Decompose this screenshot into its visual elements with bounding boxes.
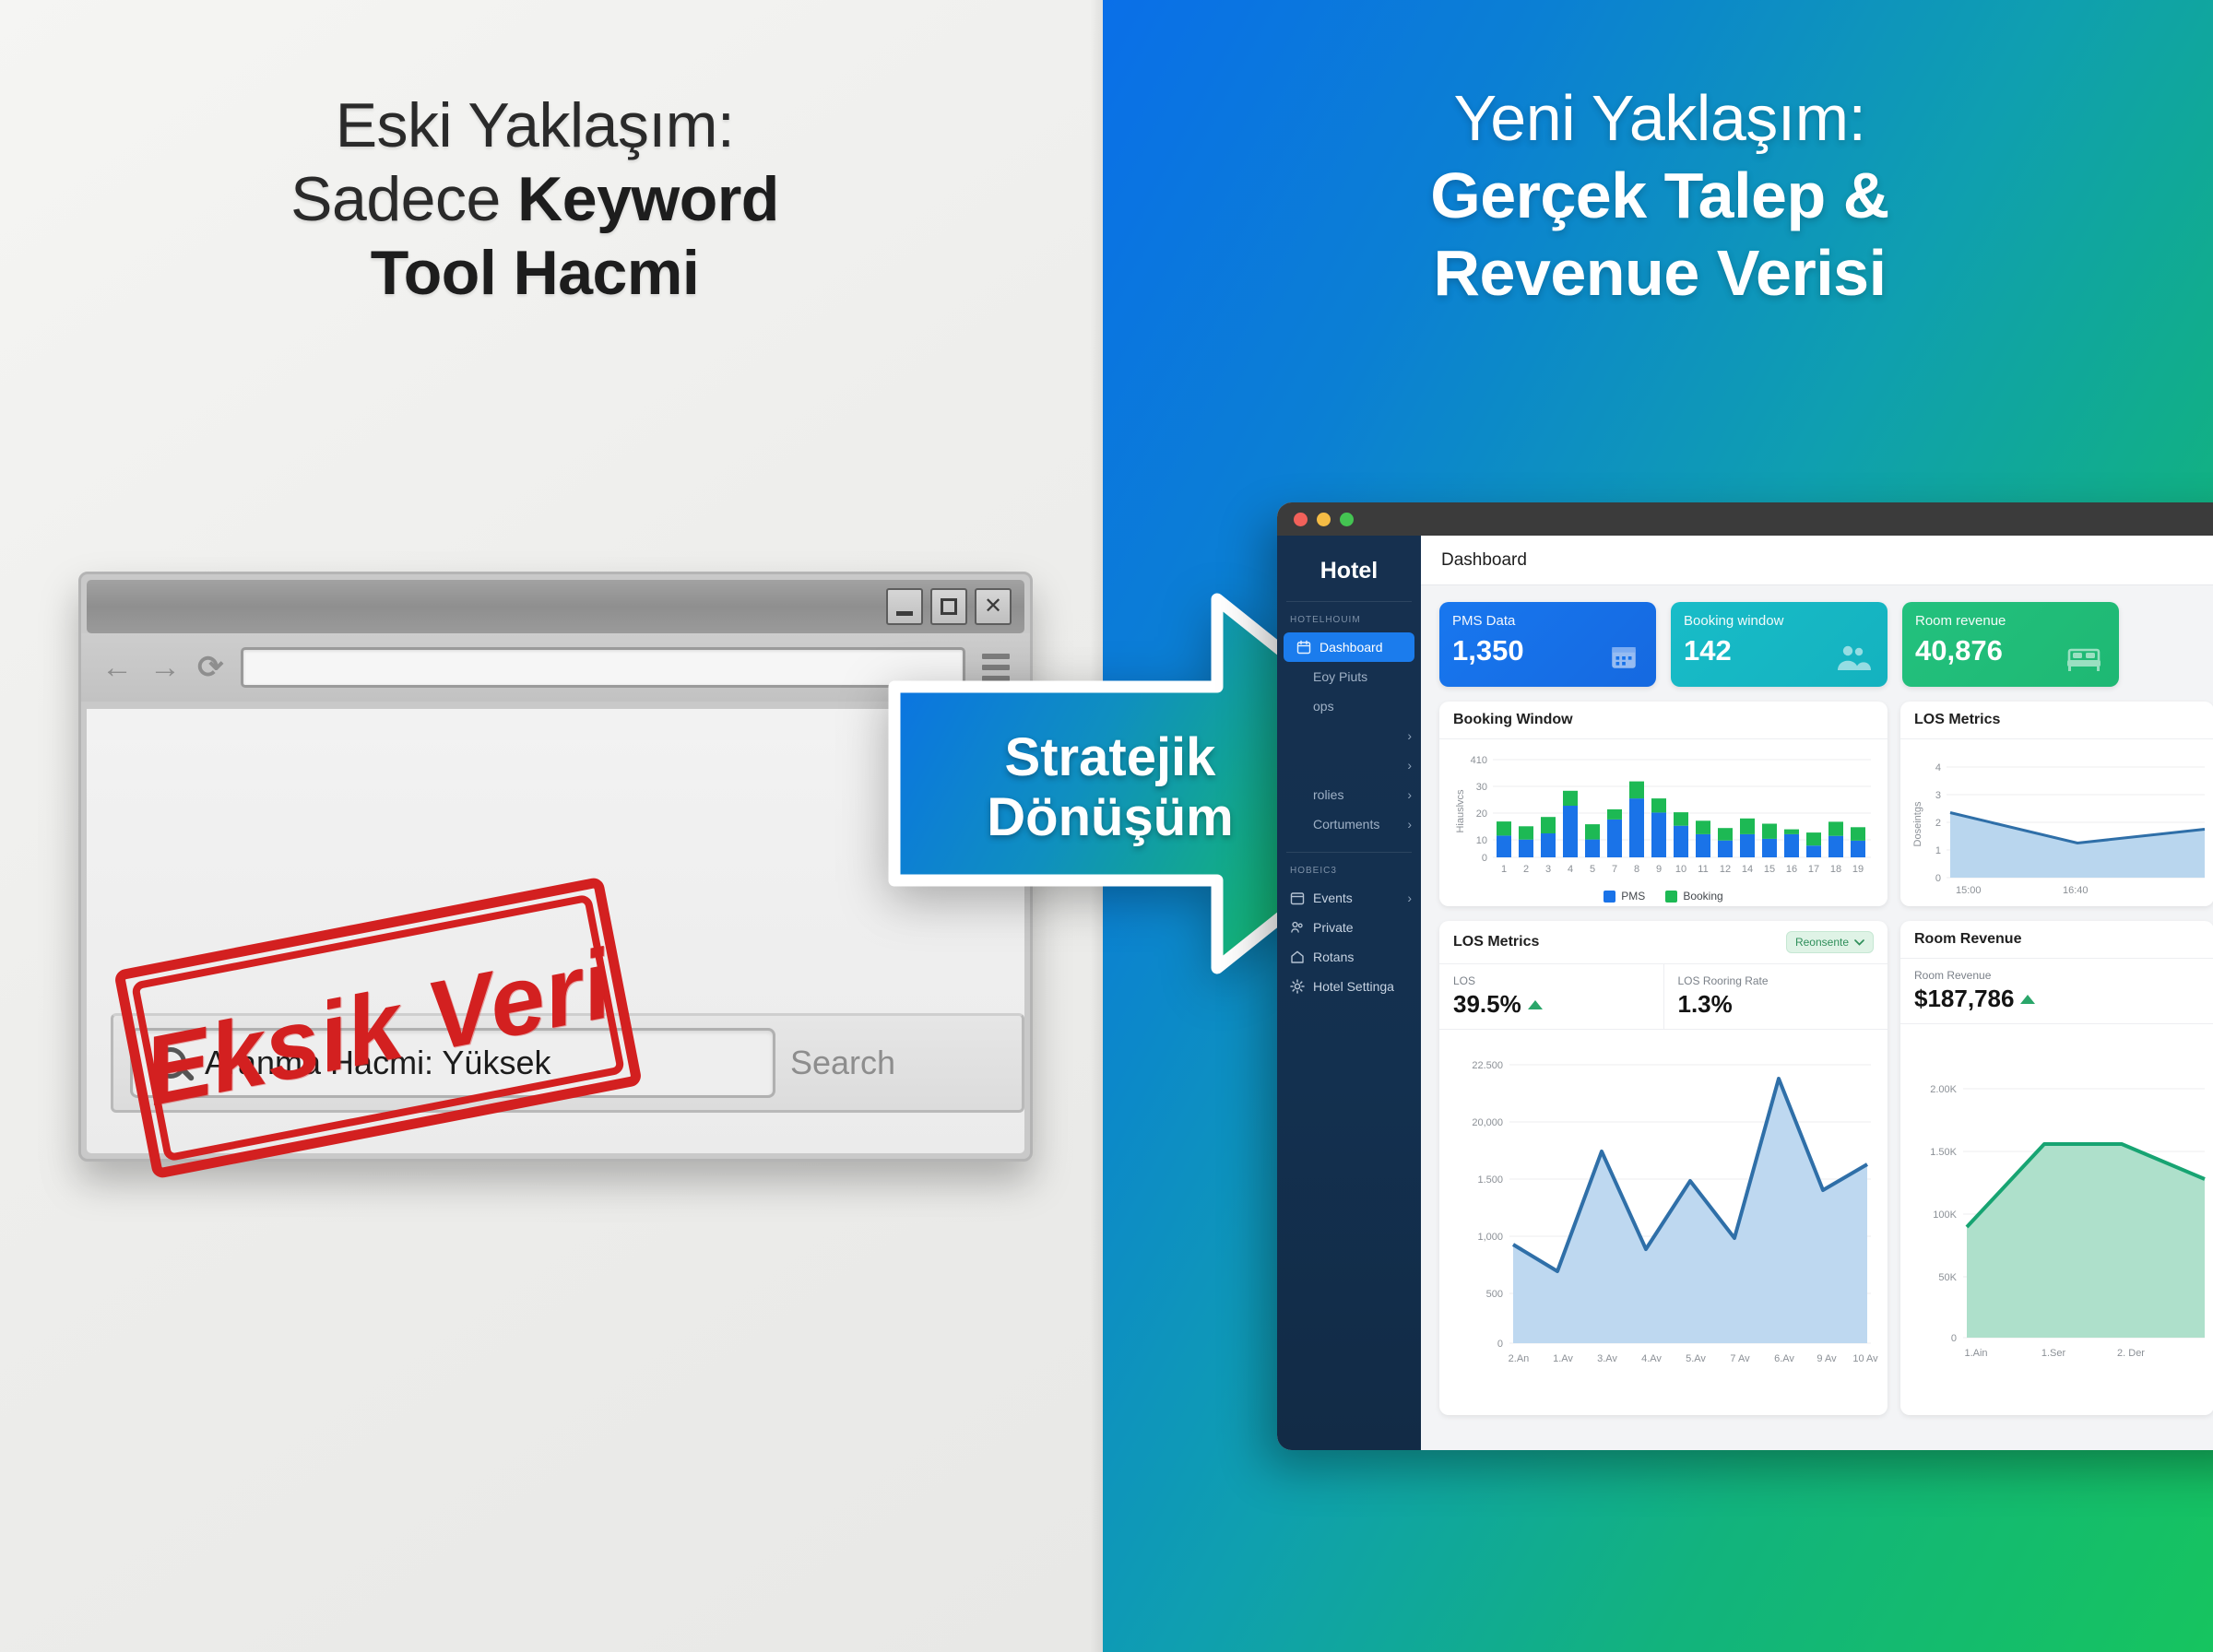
chart-icon [1290, 669, 1305, 684]
card-title: Room Revenue [1914, 931, 2021, 948]
sidebar-item-events[interactable]: Events › [1277, 883, 1421, 913]
room-revenue-chart: 2.00K 1.50K 100K 50K 0 1.Ain1.Ser2. Der [1900, 1024, 2213, 1388]
sidebar-item-ops[interactable]: ops [1277, 691, 1421, 721]
svg-text:2.00K: 2.00K [1930, 1084, 1957, 1095]
svg-text:4.Av: 4.Av [1641, 1353, 1662, 1364]
sidebar-section-2: HOBEIC3 [1277, 853, 1421, 883]
svg-text:20,000: 20,000 [1472, 1117, 1503, 1128]
forward-icon[interactable]: → [149, 650, 181, 686]
svg-text:30: 30 [1476, 782, 1487, 793]
right-heading-line2: Gerçek Talep & [1143, 157, 2176, 234]
right-heading-line3: Revenue Verisi [1143, 234, 2176, 312]
chevron-right-icon: › [1407, 728, 1412, 743]
metric-value: 1.3% [1678, 990, 1733, 1019]
sidebar-item-label: Events [1313, 891, 1353, 905]
svg-text:11: 11 [1698, 864, 1708, 875]
reload-icon[interactable]: ⟳ [197, 649, 224, 686]
period-dropdown[interactable]: Reonsente [1786, 931, 1874, 953]
placeholder-icon [1290, 758, 1305, 773]
card-title: LOS Metrics [1453, 934, 1539, 950]
card-room-revenue: Room Revenue Room Revenue $187,786 [1900, 921, 2213, 1415]
chevron-right-icon: › [1407, 787, 1412, 802]
legend-label: Booking [1683, 890, 1722, 903]
metric-label: LOS [1453, 974, 1650, 987]
sidebar-item-dashboard[interactable]: Dashboard [1284, 632, 1414, 662]
svg-text:3: 3 [1545, 864, 1551, 875]
back-icon[interactable]: ← [101, 650, 133, 686]
svg-text:0: 0 [1497, 1339, 1503, 1350]
chevron-right-icon: › [1407, 758, 1412, 773]
svg-text:1,000: 1,000 [1477, 1232, 1503, 1243]
card-header: LOS Metrics Reonsente [1439, 921, 1888, 964]
svg-text:1.Ain: 1.Ain [1964, 1348, 1987, 1359]
svg-text:1.50K: 1.50K [1930, 1147, 1957, 1158]
svg-text:2.An: 2.An [1509, 1353, 1530, 1364]
svg-text:0: 0 [1482, 853, 1487, 864]
svg-text:12: 12 [1720, 864, 1731, 875]
sidebar-item-rotans[interactable]: Rotans [1277, 942, 1421, 972]
chevron-right-icon: › [1407, 891, 1412, 905]
svg-text:0: 0 [1951, 1333, 1957, 1344]
kpi-label: Room revenue [1915, 613, 2106, 629]
los-large-chart: 22.500 20,000 1.500 1,000 500 0 2.An1.Av… [1439, 1030, 1888, 1394]
sidebar-item-label: Hotel Settinga [1313, 979, 1394, 994]
los-metrics-row: LOS 39.5% LOS Rooring Rate 1.3% [1439, 964, 1888, 1030]
svg-text:17: 17 [1808, 864, 1819, 875]
svg-text:1.500: 1.500 [1477, 1174, 1503, 1186]
trend-up-icon [2020, 995, 2035, 1004]
gear-icon [1290, 979, 1305, 994]
home-icon [1290, 950, 1305, 964]
sidebar-item-hidden-2[interactable]: › [1277, 750, 1421, 780]
svg-text:9: 9 [1656, 864, 1662, 875]
left-heading-line3: Tool Hacmi [37, 236, 1033, 310]
kpi-card-room-revenue[interactable]: Room revenue 40,876 [1902, 602, 2119, 687]
svg-text:4: 4 [1568, 864, 1573, 875]
dashboard-body: Hotel HOTELHOUIM Dashboard Eoy Piuts ops [1277, 536, 2213, 1450]
kpi-card-booking-window[interactable]: Booking window 142 [1671, 602, 1888, 687]
maximize-dot-icon[interactable] [1340, 513, 1354, 526]
metric-room-revenue: Room Revenue $187,786 [1900, 959, 2213, 1023]
card-title: Booking Window [1453, 712, 1573, 728]
dashboard-topbar: Dashboard [1421, 536, 2213, 585]
calendar-icon [1290, 891, 1305, 905]
card-header: Booking Window [1439, 702, 1888, 739]
close-dot-icon[interactable] [1294, 513, 1308, 526]
card-booking-window: Booking Window 410 30 20 [1439, 702, 1888, 906]
trend-up-icon [1528, 1000, 1543, 1009]
search-button[interactable]: Search [790, 1044, 895, 1082]
svg-text:2: 2 [1935, 818, 1941, 829]
charts-row-2: LOS Metrics Reonsente LOS 39.5% [1421, 906, 2213, 1415]
svg-text:50K: 50K [1938, 1272, 1957, 1283]
sidebar-item-eoy-piuts[interactable]: Eoy Piuts [1277, 662, 1421, 691]
area-chart: 4 3 2 1 0 Doseintgs 15:00 16:40 [1906, 747, 2208, 903]
placeholder-icon [1290, 728, 1305, 743]
address-bar[interactable] [241, 647, 966, 688]
svg-text:3: 3 [1935, 790, 1941, 801]
svg-text:7: 7 [1612, 864, 1617, 875]
sidebar-item-label: rolies [1313, 787, 1343, 802]
room-revenue-metric-row: Room Revenue $187,786 [1900, 959, 2213, 1024]
kpi-row: PMS Data 1,350 Booking window 142 Room r… [1421, 585, 2213, 687]
sidebar-item-hidden-1[interactable]: › [1277, 721, 1421, 750]
sidebar-item-label: Dashboard [1320, 640, 1383, 655]
los-small-chart: 4 3 2 1 0 Doseintgs 15:00 16:40 [1900, 739, 2213, 906]
area-chart: 2.00K 1.50K 100K 50K 0 1.Ain1.Ser2. Der [1906, 1032, 2208, 1382]
ops-icon [1290, 699, 1305, 714]
left-heading: Eski Yaklaşım: Sadece Keyword Tool Hacmi [37, 88, 1033, 311]
left-heading-line2-normal: Sadece [290, 164, 517, 234]
svg-text:3.Av: 3.Av [1597, 1353, 1617, 1364]
left-heading-line2-bold: Keyword [517, 164, 779, 234]
metric-value: $187,786 [1914, 985, 2014, 1013]
dashboard-main: Dashboard PMS Data 1,350 Booking window … [1421, 536, 2213, 1450]
svg-text:14: 14 [1742, 864, 1753, 875]
kpi-label: PMS Data [1452, 613, 1643, 629]
svg-text:10: 10 [1476, 835, 1487, 846]
metric-label: LOS Rooring Rate [1678, 974, 1875, 987]
chevron-down-icon [1854, 939, 1864, 946]
users-icon [1836, 644, 1871, 672]
calendar-icon [1296, 640, 1311, 655]
svg-text:9 Av: 9 Av [1817, 1353, 1837, 1364]
svg-text:Hiauslvcs: Hiauslvcs [1455, 789, 1466, 833]
svg-text:19: 19 [1852, 864, 1864, 875]
chevron-right-icon: › [1407, 817, 1412, 832]
stacked-bar-chart: 410 30 20 10 0 Hiauslvcs [1445, 747, 1880, 883]
page-title: Dashboard [1441, 550, 1527, 571]
svg-text:4: 4 [1935, 762, 1941, 773]
card-header: Room Revenue [1900, 921, 2213, 959]
legend-label: PMS [1621, 890, 1645, 903]
metric-value: 39.5% [1453, 990, 1521, 1019]
svg-text:1: 1 [1501, 864, 1507, 875]
sidebar-item-hotel-settings[interactable]: Hotel Settinga [1277, 972, 1421, 1001]
svg-text:1.Av: 1.Av [1553, 1353, 1573, 1364]
sidebar: Hotel HOTELHOUIM Dashboard Eoy Piuts ops [1277, 536, 1421, 1450]
svg-text:0: 0 [1935, 873, 1941, 884]
dashboard-titlebar [1277, 502, 2213, 536]
area-chart: 22.500 20,000 1.500 1,000 500 0 2.An1.Av… [1445, 1037, 1880, 1387]
sidebar-logo: Hotel [1277, 545, 1421, 601]
svg-text:10: 10 [1675, 864, 1686, 875]
users-icon [1290, 920, 1305, 935]
svg-text:2: 2 [1523, 864, 1529, 875]
metric-los: LOS 39.5% [1439, 964, 1663, 1029]
legend-item-booking: Booking [1665, 890, 1722, 903]
metric-value-wrap: 1.3% [1678, 990, 1875, 1019]
svg-text:20: 20 [1476, 808, 1487, 820]
card-title: LOS Metrics [1914, 712, 2000, 728]
svg-text:Doseintgs: Doseintgs [1912, 801, 1923, 846]
metric-los-rooring-rate: LOS Rooring Rate 1.3% [1663, 964, 1888, 1029]
sidebar-item-cortuments[interactable]: Cortuments › [1277, 809, 1421, 839]
metric-label: Room Revenue [1914, 969, 2200, 982]
document-icon [1290, 817, 1305, 832]
booking-window-chart: 410 30 20 10 0 Hiauslvcs [1439, 739, 1888, 904]
left-heading-line2: Sadece Keyword [37, 162, 1033, 236]
svg-text:8: 8 [1634, 864, 1639, 875]
svg-text:5.Av: 5.Av [1686, 1353, 1706, 1364]
calendar-icon [1608, 641, 1639, 672]
sidebar-section-1: HOTELHOUIM [1277, 602, 1421, 632]
svg-text:15:00: 15:00 [1956, 885, 1982, 896]
right-heading: Yeni Yaklaşım: Gerçek Talep & Revenue Ve… [1143, 79, 2176, 312]
svg-text:7 Av: 7 Av [1730, 1353, 1750, 1364]
minimize-dot-icon[interactable] [1317, 513, 1331, 526]
svg-text:100K: 100K [1933, 1209, 1957, 1221]
card-los-metrics-large: LOS Metrics Reonsente LOS 39.5% [1439, 921, 1888, 1415]
svg-text:18: 18 [1830, 864, 1841, 875]
dashboard-window: Hotel HOTELHOUIM Dashboard Eoy Piuts ops [1277, 502, 2213, 1450]
svg-text:500: 500 [1486, 1289, 1503, 1300]
arrow-label-line1: Stratejik [917, 728, 1304, 788]
sidebar-item-label: ops [1313, 699, 1334, 714]
right-heading-line1: Yeni Yaklaşım: [1143, 79, 2176, 157]
svg-text:10 Av: 10 Av [1852, 1353, 1878, 1364]
svg-text:16:40: 16:40 [2063, 885, 2089, 896]
poster-stage: Eski Yaklaşım: Sadece Keyword Tool Hacmi… [0, 0, 2213, 1652]
arrow-label: Stratejik Dönüşüm [917, 728, 1304, 848]
metric-value-wrap: 39.5% [1453, 990, 1650, 1019]
kpi-card-pms-data[interactable]: PMS Data 1,350 [1439, 602, 1656, 687]
svg-text:15: 15 [1764, 864, 1775, 875]
svg-text:16: 16 [1786, 864, 1797, 875]
left-heading-line1: Eski Yaklaşım: [37, 88, 1033, 162]
sidebar-item-label: Cortuments [1313, 817, 1379, 832]
arrow-label-line2: Dönüşüm [917, 788, 1304, 848]
svg-text:6.Av: 6.Av [1774, 1353, 1794, 1364]
legend-item-pms: PMS [1604, 890, 1645, 903]
svg-text:1: 1 [1935, 845, 1941, 856]
svg-text:5: 5 [1590, 864, 1595, 875]
sidebar-item-private[interactable]: Private [1277, 913, 1421, 942]
svg-text:410: 410 [1471, 755, 1487, 766]
period-dropdown-label: Reonsente [1795, 936, 1849, 949]
kpi-label: Booking window [1684, 613, 1875, 629]
sidebar-item-label: Rotans [1313, 950, 1354, 964]
sidebar-item-label: Eoy Piuts [1313, 669, 1367, 684]
svg-text:2. Der: 2. Der [2117, 1348, 2145, 1359]
browser-titlebar: ✕ [87, 580, 1024, 633]
card-los-metrics-small: LOS Metrics 4 3 2 [1900, 702, 2213, 906]
metric-value-wrap: $187,786 [1914, 985, 2200, 1013]
card-header: LOS Metrics [1900, 702, 2213, 739]
placeholder-icon [1290, 787, 1305, 802]
charts-row-1: Booking Window 410 30 20 [1421, 687, 2213, 906]
chart-legend: PMS Booking [1445, 890, 1882, 903]
sidebar-item-rolies[interactable]: rolies › [1277, 780, 1421, 809]
sidebar-item-label: Private [1313, 920, 1354, 935]
svg-text:1.Ser: 1.Ser [2041, 1348, 2066, 1359]
svg-text:22.500: 22.500 [1472, 1060, 1503, 1071]
bed-icon [2065, 646, 2102, 672]
